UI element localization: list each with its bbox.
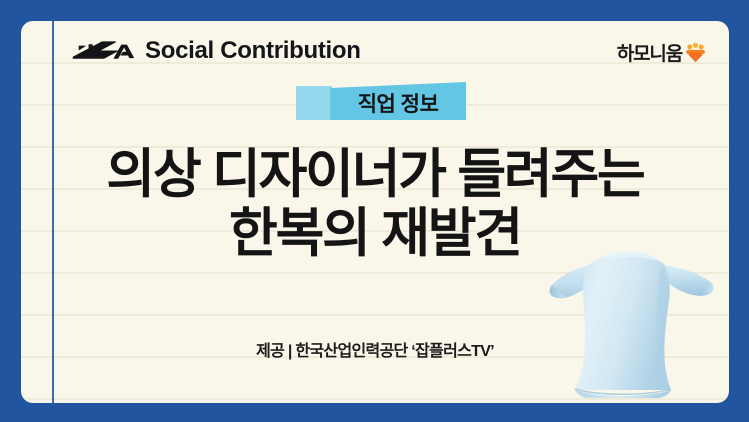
header: Social Contribution 하모니움	[21, 21, 729, 83]
category-badge: 직업 정보	[296, 82, 466, 120]
kia-wordmark: Social Contribution	[145, 37, 361, 65]
kia-logo-icon	[68, 41, 134, 62]
badge-body: 직업 정보	[330, 82, 466, 120]
harmonium-logo: 하모니움	[617, 39, 707, 66]
slide-card: Social Contribution 하모니움 직업 정보	[0, 0, 749, 422]
badge-accent-block	[296, 86, 332, 120]
harmonium-label: 하모니움	[617, 39, 682, 66]
badge-label: 직업 정보	[358, 85, 439, 118]
kia-logo: Social Contribution	[68, 37, 361, 65]
hanbok-jeogori-illustration	[543, 247, 721, 399]
people-heart-icon	[684, 41, 707, 64]
notebook-page: Social Contribution 하모니움 직업 정보	[21, 21, 729, 403]
page-title: 의상 디자이너가 들려주는 한복의 재발견	[21, 145, 729, 264]
title-line-1: 의상 디자이너가 들려주는	[21, 145, 729, 204]
